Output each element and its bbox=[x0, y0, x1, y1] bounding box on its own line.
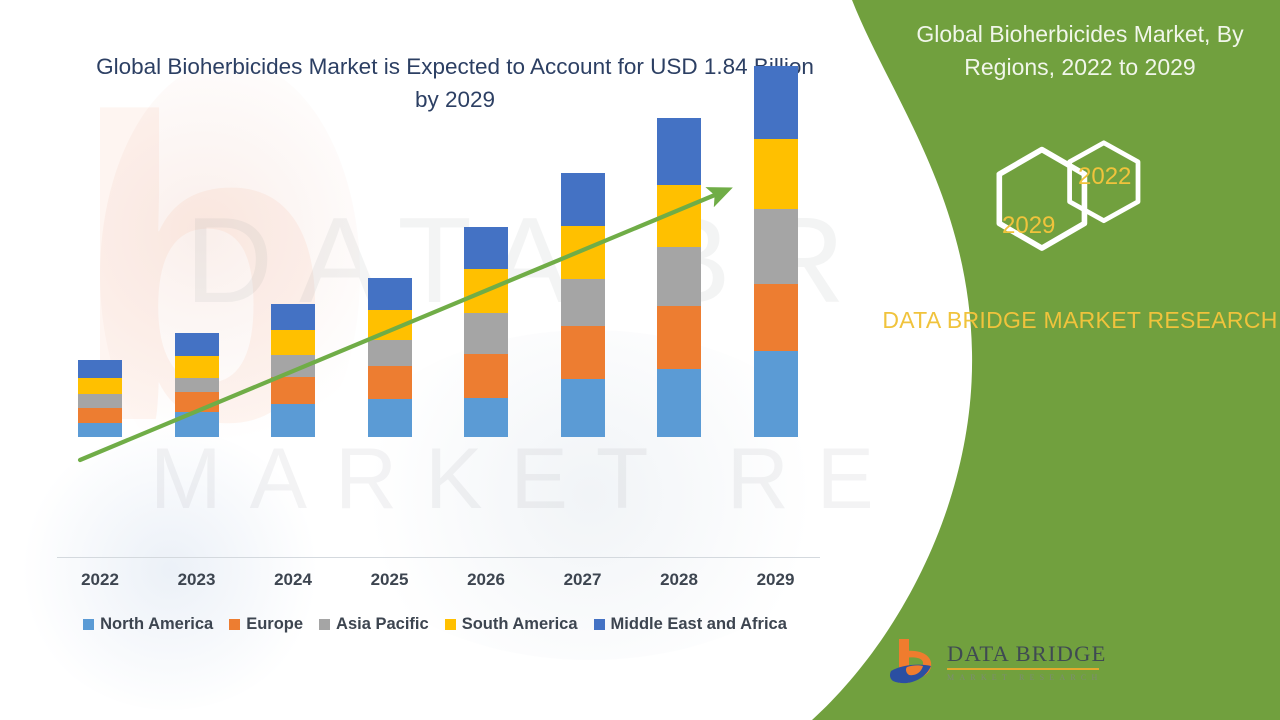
hexagon-badges: 2029 2022 bbox=[880, 130, 1280, 280]
logo-title: DATA BRIDGE bbox=[947, 641, 1107, 667]
logo-subtitle: MARKET RESEARCH bbox=[947, 673, 1107, 682]
legend-swatch-icon bbox=[319, 619, 330, 630]
legend-label: South America bbox=[462, 615, 578, 634]
chart-panel: b DATA BRIDGE MARKET RESEARCH Global Bio… bbox=[0, 0, 870, 720]
logo-divider bbox=[947, 668, 1099, 670]
legend-swatch-icon bbox=[445, 619, 456, 630]
chart-legend: North AmericaEuropeAsia PacificSouth Ame… bbox=[0, 615, 870, 634]
legend-label: Asia Pacific bbox=[336, 615, 429, 634]
legend-item-north-america[interactable]: North America bbox=[83, 615, 213, 634]
legend-item-middle-east-and-africa[interactable]: Middle East and Africa bbox=[594, 615, 787, 634]
logo-mark-icon bbox=[885, 635, 943, 693]
green-panel-content: Global Bioherbicides Market, By Regions,… bbox=[880, 0, 1280, 720]
brand-name: DATA BRIDGE MARKET RESEARCH bbox=[880, 305, 1280, 336]
legend-label: Europe bbox=[246, 615, 303, 634]
legend-label: North America bbox=[100, 615, 213, 634]
panel-title: Global Bioherbicides Market, By Regions,… bbox=[880, 18, 1280, 84]
hexagon-label-2029: 2029 bbox=[1002, 212, 1055, 240]
legend-swatch-icon bbox=[229, 619, 240, 630]
growth-arrow-icon bbox=[0, 0, 870, 600]
legend-swatch-icon bbox=[83, 619, 94, 630]
logo-text-block: DATA BRIDGE MARKET RESEARCH bbox=[947, 641, 1107, 682]
data-bridge-logo: DATA BRIDGE MARKET RESEARCH bbox=[885, 635, 1125, 697]
legend-label: Middle East and Africa bbox=[611, 615, 787, 634]
hexagon-label-2022: 2022 bbox=[1078, 163, 1131, 191]
slide-canvas: b DATA BRIDGE MARKET RESEARCH Global Bio… bbox=[0, 0, 1280, 720]
chart-plot-area: 20222023202420252026202720282029 bbox=[0, 0, 870, 600]
legend-item-south-america[interactable]: South America bbox=[445, 615, 578, 634]
legend-swatch-icon bbox=[594, 619, 605, 630]
legend-item-europe[interactable]: Europe bbox=[229, 615, 303, 634]
legend-item-asia-pacific[interactable]: Asia Pacific bbox=[319, 615, 429, 634]
